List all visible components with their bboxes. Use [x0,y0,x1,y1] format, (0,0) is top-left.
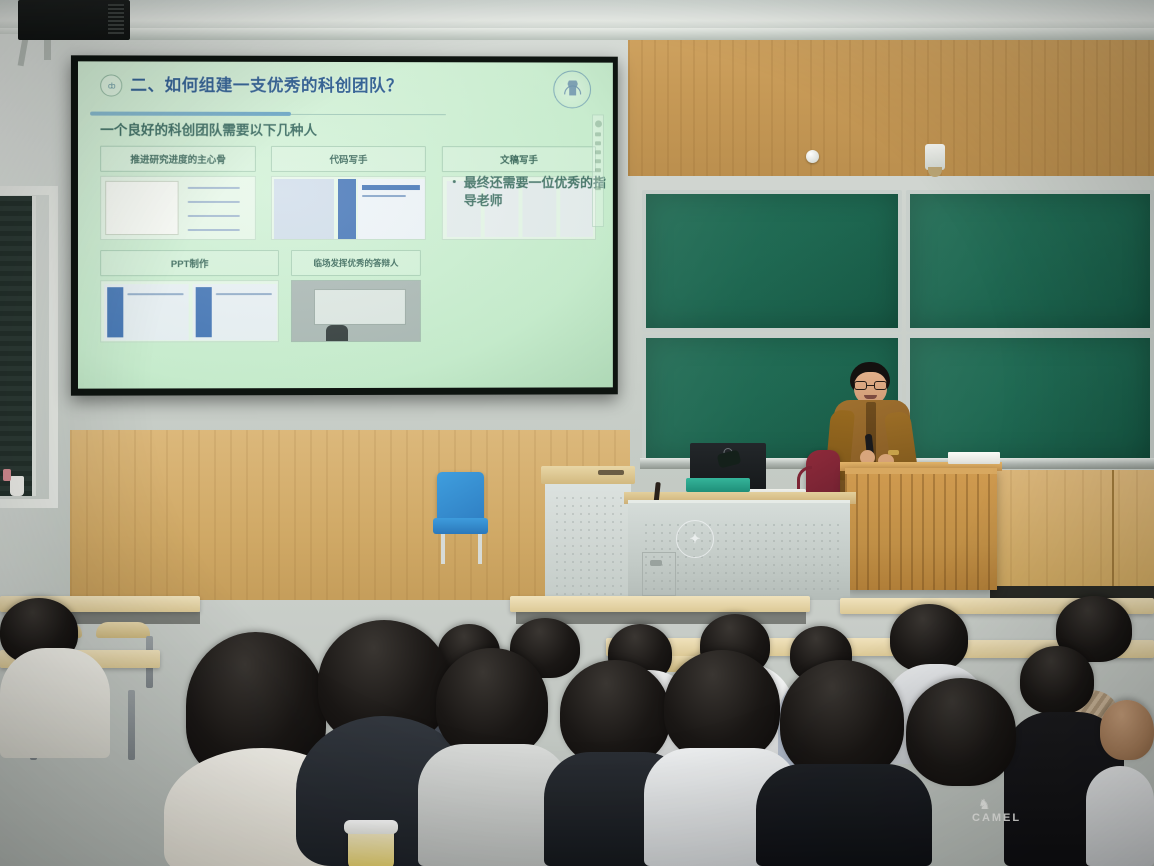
wristwatch-icon [888,450,899,455]
eyeglasses-icon [853,381,888,390]
toolbar-item-icon[interactable] [595,132,601,136]
blackboard-panel [906,334,1154,464]
thumb-sidebar [107,287,123,337]
student-head [906,678,1016,786]
slide-logo-icon: cb [100,74,122,96]
green-equipment-case [686,478,750,492]
certificate-image [105,181,178,235]
slide-thin-rule [291,113,446,114]
desk-leg [128,690,135,760]
thumb-sidebar [338,179,356,239]
role-box-defender: 临场发挥优秀的答辩人 [291,250,421,276]
toolbar-item-icon[interactable] [595,168,601,172]
lens-right [874,381,887,390]
thumb-line [362,195,406,197]
slide-accent-rule [90,112,291,116]
slide-title: 二、如何组建一支优秀的科创团队？ [130,72,403,97]
glasses-bridge [867,385,874,386]
thumbnail-certificate [100,176,256,240]
lower-cabinet [990,470,1154,600]
blackboard-panel [642,190,902,332]
role-box-backbone: 推进研究进度的主心骨 [100,146,256,172]
ceiling-projector [18,0,130,40]
projector-vent [108,4,124,34]
slide-toolbar-rail[interactable] [592,114,604,227]
student-head [890,604,968,672]
role-box-ppt: PPT制作 [100,250,279,276]
thumb-line [127,293,183,295]
student-head [560,660,670,766]
thumbnail-code-editor [271,176,426,240]
blackboard-panel [906,190,1154,332]
role-box-coder: 代码写手 [271,146,426,172]
side-cabinet-top [541,466,635,484]
cup-lid [344,820,398,834]
toolbar-item-icon[interactable] [595,141,601,145]
student-head [1020,646,1094,714]
wooden-lectern [845,468,997,590]
thumb-sidebar [196,287,212,337]
blue-chair-back [437,472,484,522]
student-head [780,660,904,780]
projector-mount [44,38,51,60]
thumb-codeline [362,185,420,190]
photo-person [326,325,348,341]
slide-header: cb 二、如何组建一支优秀的科创团队？ [78,61,613,110]
presenter-mouth [864,395,877,399]
toolbar-item-icon[interactable] [595,177,601,181]
thumbnail-defense-photo [291,280,421,342]
slide-bullet: 最终还需要一位优秀的指导老师 [464,174,613,209]
emblem-glyph [565,80,580,99]
console-lock-icon[interactable] [650,560,662,566]
student-body [756,764,932,866]
projection-screen: cb 二、如何组建一支优秀的科创团队？ 一个良好的科创团队需要以下几种人 推进研… [71,55,618,395]
thumb-line [188,187,240,189]
wall-speaker-icon [806,150,819,163]
student-head [436,648,548,758]
papers-on-lectern [948,452,1000,464]
record-dot-icon[interactable] [595,120,602,127]
student-head [664,650,780,762]
chair-leg [441,530,445,564]
toolbar-item-icon[interactable] [595,150,601,154]
university-emblem-icon [553,70,591,108]
school-logo-icon: ✦ [676,520,714,558]
window-frame [0,186,58,508]
thumb-line [216,293,272,295]
console-access-door[interactable] [642,552,676,596]
slide-bullet-text: 最终还需要一位优秀的指导老师 [464,175,606,207]
thumb-line [188,215,240,217]
student-body [0,648,110,758]
thumb-panel [274,179,334,239]
brand-text: CAMEL [972,812,1021,824]
student-head [1100,700,1154,760]
student-desk [510,596,810,612]
slide-subtitle: 一个良好的科创团队需要以下几种人 [100,119,317,139]
thumbnail-slide-deck [100,280,279,342]
student-body [1086,766,1154,866]
lens-left [854,381,867,390]
camel-logo-icon: ♞ [978,796,991,813]
thumb-line [188,229,240,231]
side-cabinet [545,484,631,604]
cup-on-window-sill [10,476,24,496]
toolbar-item-icon[interactable] [595,186,601,190]
ceiling-camera-icon [925,144,945,170]
lecture-hall-scene: cb 二、如何组建一支优秀的科创团队？ 一个良好的科创团队需要以下几种人 推进研… [0,0,1154,866]
photo-whiteboard [314,289,406,325]
presentation-slide: cb 二、如何组建一支优秀的科创团队？ 一个良好的科创团队需要以下几种人 推进研… [78,61,613,388]
cable-bundle [598,470,624,475]
cabinet-seam [1112,470,1114,598]
blue-chair-seat [433,518,488,534]
chair-leg [478,530,482,564]
thumb-line [188,201,240,203]
bullet-dot-icon [453,180,456,183]
bench-seat [96,622,150,638]
toolbar-item-icon[interactable] [595,159,601,163]
role-box-writer: 文稿写手 [442,146,596,172]
ceiling-beam [0,28,1154,40]
